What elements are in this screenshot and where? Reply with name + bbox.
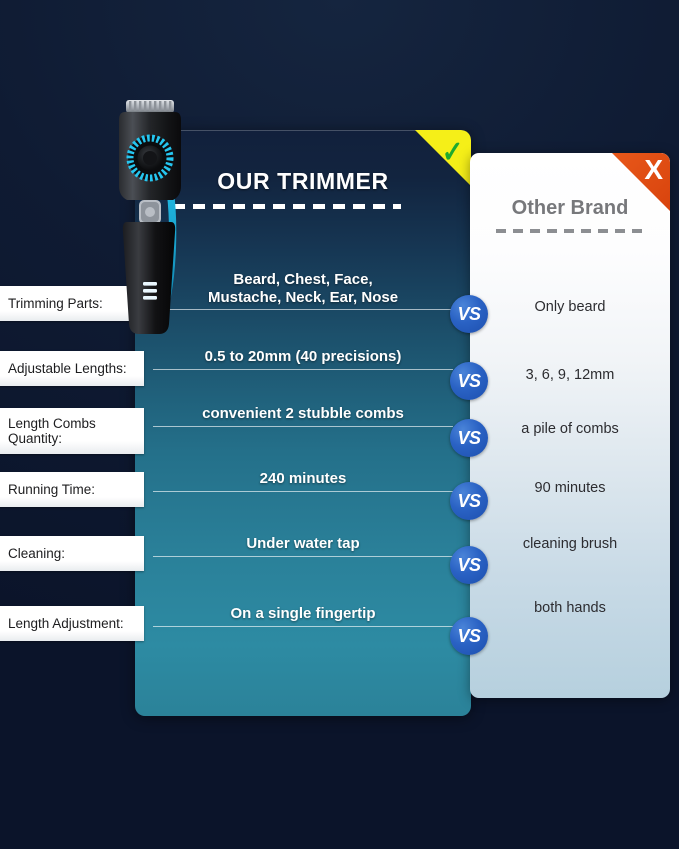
our-value-text: convenient 2 stubble combs [153,405,453,423]
feature-label-band: Adjustable Lengths: [0,351,144,386]
feature-label-text: Cleaning: [8,546,65,561]
our-value-row: Under water tap [153,535,453,557]
feature-label-band: Cleaning: [0,536,144,571]
close-icon: X [644,156,663,184]
feature-label-band: Length Combs Quantity: [0,408,144,454]
feature-label-band: Length Adjustment: [0,606,144,641]
vs-badge: VS [450,617,488,655]
other-value-row: 3, 6, 9, 12mm [470,367,670,383]
our-title-dashed-rule [173,204,401,209]
our-value-underline [153,309,453,310]
our-value-underline [153,556,453,557]
our-value-underline [153,626,453,627]
other-brand-title: Other Brand [470,197,670,220]
feature-label-text: Trimming Parts: [8,296,103,311]
feature-label-text: Length Combs Quantity: [8,416,96,446]
vs-badge: VS [450,419,488,457]
other-value-row: 90 minutes [470,480,670,496]
vs-badge: VS [450,362,488,400]
feature-label-text: Length Adjustment: [8,616,124,631]
other-value-row: Only beard [470,299,670,315]
feature-label-text: Running Time: [8,482,95,497]
our-value-underline [153,369,453,370]
our-value-row: 240 minutes [153,470,453,492]
vs-badge: VS [450,295,488,333]
vs-badge: VS [450,546,488,584]
our-value-text: 240 minutes [153,470,453,488]
our-value-row: Beard, Chest, Face, Mustache, Neck, Ear,… [153,271,453,310]
feature-label-text: Adjustable Lengths: [8,361,127,376]
other-title-dashed-rule [496,229,646,233]
vs-badge: VS [450,482,488,520]
beard-trimmer [110,96,192,338]
other-value-row: a pile of combs [470,421,670,437]
our-value-underline [153,426,453,427]
our-value-row: convenient 2 stubble combs [153,405,453,427]
feature-label-band: Running Time: [0,472,144,507]
our-value-row: On a single fingertip [153,605,453,627]
other-value-row: both hands [470,600,670,616]
our-value-text: Beard, Chest, Face, Mustache, Neck, Ear,… [153,271,453,306]
our-value-text: Under water tap [153,535,453,553]
our-value-text: 0.5 to 20mm (40 precisions) [153,348,453,366]
our-value-underline [153,491,453,492]
other-value-row: cleaning brush [470,536,670,552]
check-icon: ✓ [442,138,463,168]
our-value-row: 0.5 to 20mm (40 precisions) [153,348,453,370]
our-value-text: On a single fingertip [153,605,453,623]
other-brand-card: X Other Brand Only beard3, 6, 9, 12mma p… [470,153,670,698]
